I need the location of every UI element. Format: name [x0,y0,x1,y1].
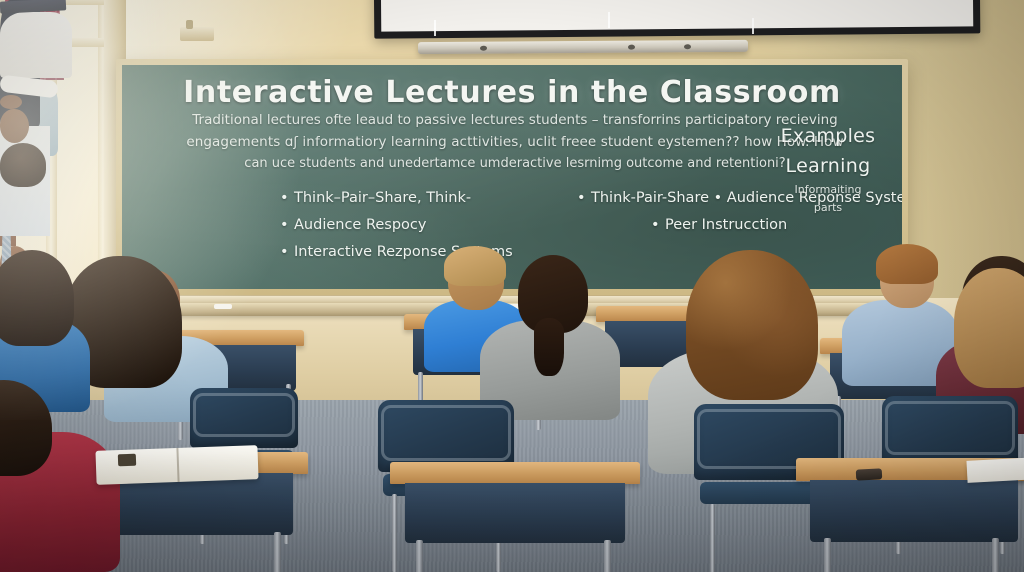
seated-woman-hair [0,143,46,187]
desk-basket [405,483,625,543]
chair-rail [193,393,295,437]
bullet-marker-icon: • [577,185,591,212]
desk-top [390,462,640,484]
chalk-piece [214,304,232,309]
projector-screen [374,0,981,39]
chair-back [882,396,1018,466]
projector-roller [418,40,748,54]
seated-woman-face [0,109,29,143]
student-ponytail [534,318,564,376]
roller-knob-right [684,44,691,49]
chalkboard-frame: Interactive Lectures in the Classroom Tr… [116,59,908,295]
side-note-3: Informaiting [760,181,896,199]
chair-leg [710,504,715,572]
student-hair [954,268,1024,388]
side-note-2: Learning [760,151,896,181]
bullet-marker-icon: • [280,185,294,212]
wall-mount-bracket [180,27,214,41]
student-hair [686,250,818,400]
bullet-marker-icon: • [280,239,294,266]
desk-leg [604,540,611,572]
classroom-scene: Interactive Lectures in the Classroom Tr… [0,0,1024,572]
roller-knob-mid [628,45,635,50]
bullet-left-2-label: Audience Respocy [294,217,426,233]
folder-on-desk [0,0,66,14]
bullet-left-1-label: Think–Pair–Share, Think- [294,190,471,206]
seated-woman-white-top [0,0,72,187]
side-note-1: Examples [760,121,896,151]
phone-on-desk [856,468,883,480]
chalkboard: Interactive Lectures in the Classroom Tr… [122,65,902,289]
student-hair [444,246,506,286]
bullet-marker-icon: • [651,212,665,239]
projector-cord-left [434,20,436,36]
chair-back [190,388,298,448]
chair-rail [885,401,1015,455]
desk-leg [824,538,831,572]
seated-woman-blouse [0,12,72,78]
bullet-left-1: •Think–Pair–Share, Think- [280,185,513,212]
desk-leg [274,532,281,572]
desk-leg [992,538,999,572]
student-hair [876,244,938,284]
paper-sheet [966,457,1024,483]
board-side-notes: Examples Learning Informaiting parts [760,121,896,217]
notebook-label [118,454,136,467]
roller-knob-left [480,46,487,51]
projector-cord-center [608,12,610,28]
chair-rail [381,405,511,461]
bullet-marker-icon: • [280,212,294,239]
seated-woman-hand [0,95,22,109]
board-title: Interactive Lectures in the Classroom [122,75,902,110]
projector-cord-right [752,18,754,34]
desk-basket [810,480,1018,542]
bullet-right-2-label: Peer Instrucction [665,217,787,233]
desk-leg [416,540,423,572]
student-desk [390,462,640,572]
bullet-left-2: •Audience Respocy [280,212,513,239]
side-note-4: parts [760,199,896,217]
